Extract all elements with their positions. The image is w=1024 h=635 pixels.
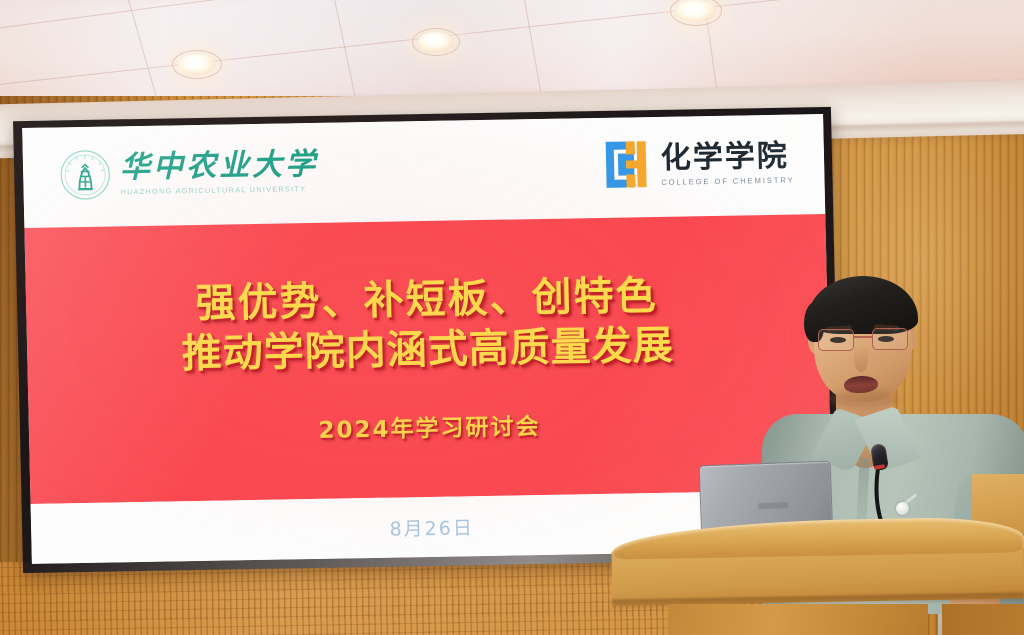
- ceiling-tile-seam: [0, 0, 1024, 31]
- college-name-en: COLLEGE OF CHEMISTRY: [661, 175, 794, 186]
- presenter-glasses-bridge: [854, 336, 872, 338]
- downlight-right-trim: [670, 0, 722, 26]
- downlight-center-trim: [412, 28, 460, 56]
- presenter-lapel-badge: [896, 502, 909, 515]
- university-name-cn: 华中农业大学: [120, 149, 319, 185]
- slide-subtitle: 2024年学习研讨会: [318, 407, 541, 445]
- lectern: [612, 520, 1024, 635]
- lectern-base: [668, 604, 928, 635]
- slide-title-band: 强优势、补短板、创特色 推动学院内涵式高质量发展 2024年学习研讨会: [24, 214, 831, 504]
- university-name-block: 华中农业大学 HUAZHONG AGRICULTURAL UNIVERSITY: [120, 149, 319, 197]
- lectern-top-surface: [612, 516, 1024, 559]
- presenter-hair: [808, 276, 918, 334]
- chemistry-ch-monogram-icon: [603, 139, 648, 190]
- slide-date: 8月26日: [389, 513, 474, 541]
- conference-photo-scene: 华中农业大学 HUAZHONG AGRICULTURAL UNIVERSITY: [0, 0, 1024, 635]
- downlight-left-trim: [172, 50, 222, 79]
- lectern-base-side: [942, 604, 1024, 635]
- slide-header: 华中农业大学 HUAZHONG AGRICULTURAL UNIVERSITY: [22, 114, 825, 228]
- slide-title-line-1: 强优势、补短板、创特色: [195, 271, 658, 329]
- college-logo: 化学学院 COLLEGE OF CHEMISTRY: [603, 137, 794, 190]
- college-name-cn: 化学学院: [660, 139, 794, 174]
- university-name-en: HUAZHONG AGRICULTURAL UNIVERSITY: [121, 184, 319, 196]
- slide-title-line-2: 推动学院内涵式高质量发展: [181, 321, 674, 380]
- presenter-glasses-lens-right: [872, 328, 908, 350]
- ceiling-tile-seam: [0, 0, 1024, 87]
- college-name-block: 化学学院 COLLEGE OF CHEMISTRY: [660, 139, 794, 186]
- presenter-glasses-lens-left: [818, 329, 854, 351]
- university-seal-icon: [59, 148, 112, 201]
- university-logo: 华中农业大学 HUAZHONG AGRICULTURAL UNIVERSITY: [59, 145, 319, 202]
- presenter-glasses-icon: [814, 328, 914, 352]
